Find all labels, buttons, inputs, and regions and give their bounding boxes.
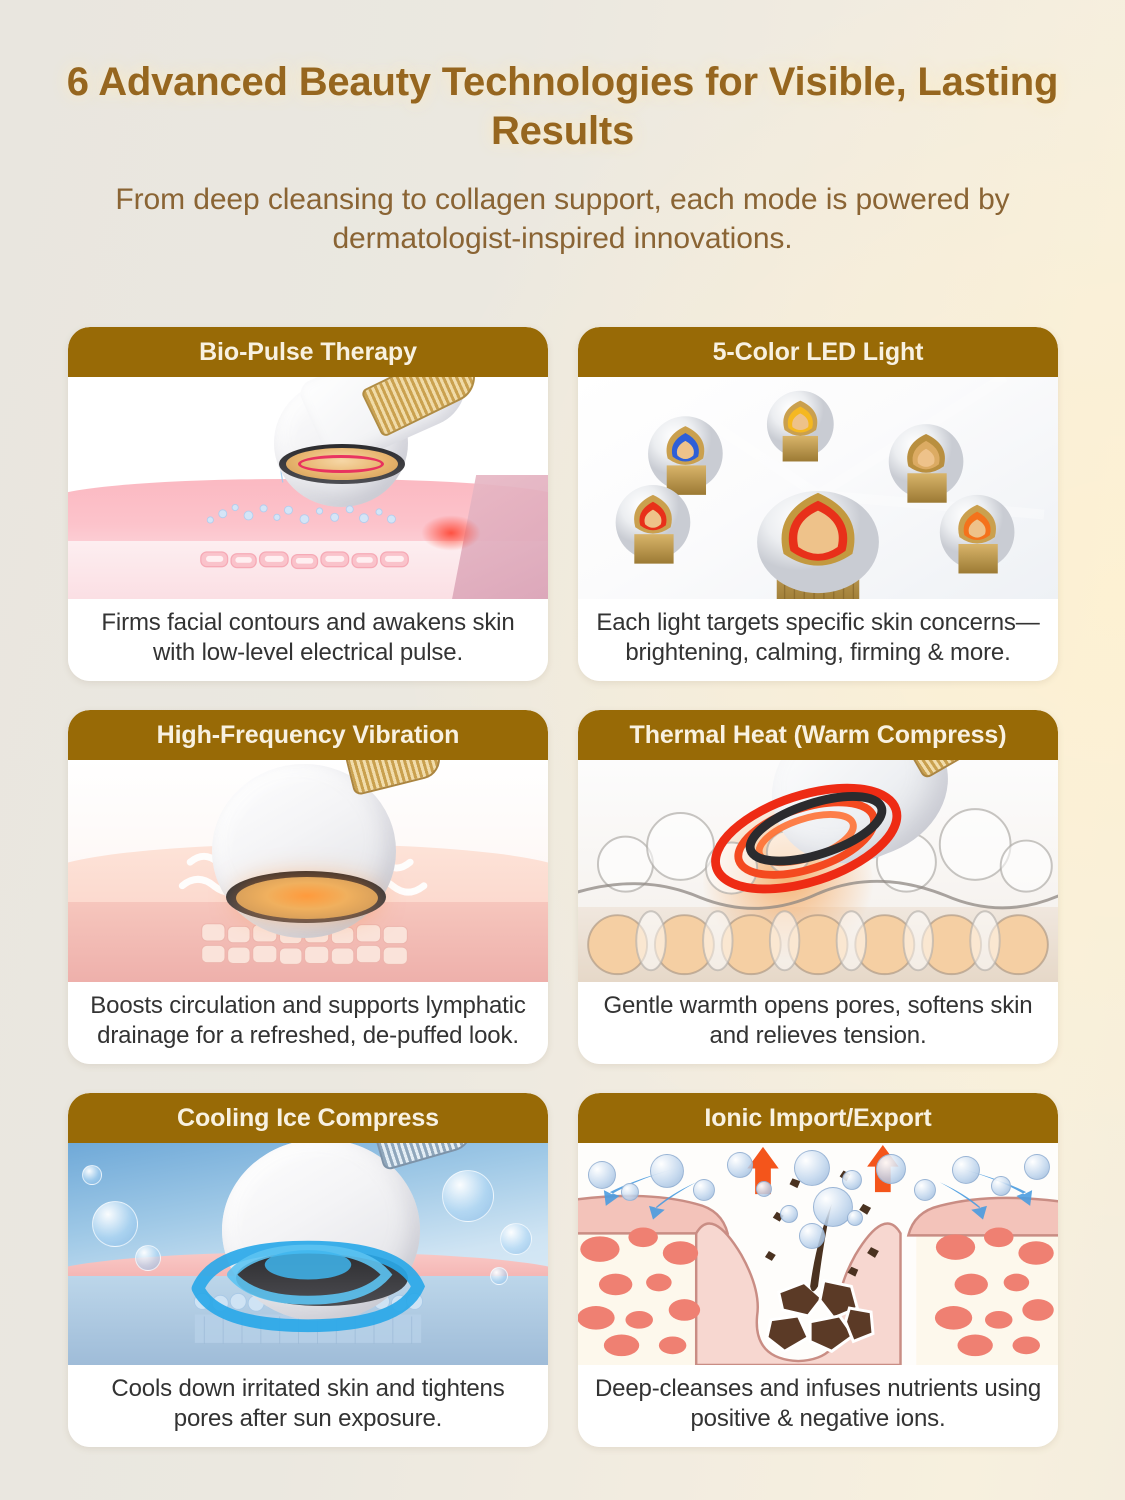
page-title: 6 Advanced Beauty Technologies for Visib… bbox=[62, 58, 1063, 156]
card-thermal-heat-warm-compress[interactable]: Thermal Heat (Warm Compress) bbox=[578, 710, 1058, 1064]
card-title-bar: High-Frequency Vibration bbox=[68, 710, 548, 760]
ion-bubble bbox=[847, 1210, 863, 1226]
card-high-frequency-vibration[interactable]: High-Frequency Vibration bbox=[68, 710, 548, 1064]
heat-ring-icon bbox=[578, 760, 1058, 982]
infographic-page: 6 Advanced Beauty Technologies for Visib… bbox=[0, 0, 1125, 1500]
card-title: Ionic Import/Export bbox=[704, 1104, 931, 1133]
card-cooling-ice-compress[interactable]: Cooling Ice Compress bbox=[68, 1093, 548, 1447]
card-title: Cooling Ice Compress bbox=[177, 1104, 439, 1133]
card-illustration-thermal bbox=[578, 760, 1058, 982]
heated-probe-plate bbox=[236, 877, 378, 919]
bubble-cluster bbox=[68, 488, 548, 550]
ion-bubble bbox=[799, 1223, 825, 1249]
blue-led-head bbox=[648, 416, 723, 495]
card-illustration-ionic bbox=[578, 1143, 1058, 1365]
card-caption: Each light targets specific skin concern… bbox=[578, 599, 1058, 681]
card-caption: Gentle warmth opens pores, softens skin … bbox=[578, 982, 1058, 1064]
card-illustration-bio-pulse bbox=[68, 377, 548, 599]
ion-bubble bbox=[842, 1170, 862, 1190]
ion-bubble bbox=[794, 1150, 830, 1186]
card-caption: Firms facial contours and awakens skin w… bbox=[68, 599, 548, 681]
header-block: 6 Advanced Beauty Technologies for Visib… bbox=[0, 0, 1125, 259]
card-caption: Cools down irritated skin and tightens p… bbox=[68, 1365, 548, 1447]
red-led-head-large bbox=[757, 491, 879, 599]
ion-bubble bbox=[650, 1154, 684, 1188]
ion-bubble bbox=[991, 1176, 1011, 1196]
card-illustration-cooling bbox=[68, 1143, 548, 1365]
ion-bubble bbox=[780, 1205, 798, 1223]
ion-bubble bbox=[588, 1161, 616, 1189]
card-title: 5-Color LED Light bbox=[713, 338, 924, 367]
technology-card-grid: Bio-Pulse Therapy bbox=[68, 327, 1058, 1447]
card-title: Thermal Heat (Warm Compress) bbox=[630, 721, 1007, 750]
card-title-bar: Ionic Import/Export bbox=[578, 1093, 1058, 1143]
red-led-head bbox=[616, 485, 691, 564]
ion-bubble bbox=[756, 1181, 772, 1197]
ion-bubble bbox=[876, 1154, 906, 1184]
card-ionic-import-export[interactable]: Ionic Import/Export bbox=[578, 1093, 1058, 1447]
ion-bubble bbox=[914, 1179, 936, 1201]
card-caption: Boosts circulation and supports lymphati… bbox=[68, 982, 548, 1064]
card-bio-pulse-therapy[interactable]: Bio-Pulse Therapy bbox=[68, 327, 548, 681]
orange-led-head bbox=[940, 495, 1015, 574]
card-title-bar: Cooling Ice Compress bbox=[68, 1093, 548, 1143]
card-title-bar: 5-Color LED Light bbox=[578, 327, 1058, 377]
card-caption: Deep-cleanses and infuses nutrients usin… bbox=[578, 1365, 1058, 1447]
cooling-swirl-icon bbox=[68, 1143, 548, 1365]
gold-led-head bbox=[889, 424, 964, 503]
page-subtitle: From deep cleansing to collagen support,… bbox=[62, 180, 1063, 260]
card-title-bar: Thermal Heat (Warm Compress) bbox=[578, 710, 1058, 760]
ion-bubble bbox=[727, 1152, 753, 1178]
pulse-indicator bbox=[298, 455, 384, 473]
card-five-color-led-light[interactable]: 5-Color LED Light bbox=[578, 327, 1058, 681]
led-heads-diagram bbox=[578, 377, 1058, 599]
card-illustration-vibration bbox=[68, 760, 548, 982]
ion-bubble bbox=[693, 1179, 715, 1201]
card-title: Bio-Pulse Therapy bbox=[199, 338, 417, 367]
yellow-led-head bbox=[767, 391, 834, 462]
card-illustration-led bbox=[578, 377, 1058, 599]
card-title-bar: Bio-Pulse Therapy bbox=[68, 327, 548, 377]
card-title: High-Frequency Vibration bbox=[157, 721, 460, 750]
